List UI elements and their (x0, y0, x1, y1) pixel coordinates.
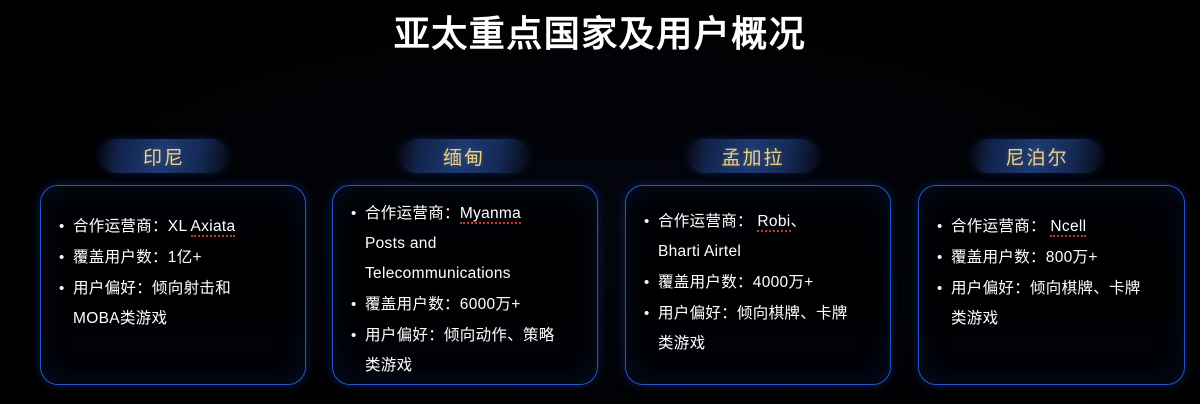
text-run: Telecommunications (365, 265, 511, 282)
bullet-dot-icon: • (351, 290, 365, 320)
country-card-nepal: •合作运营商： Ncell•覆盖用户数：800万+•用户偏好：倾向棋牌、卡牌类游… (918, 185, 1185, 385)
bullet-list: •合作运营商：MyanmaPosts andTelecommunications… (351, 199, 585, 382)
text-run: 、 (791, 213, 807, 230)
country-badge-indonesia[interactable]: 印尼 (100, 139, 228, 173)
bullet-dot-icon: • (937, 243, 951, 273)
text-run: Posts and (365, 235, 437, 252)
text-run: MOBA类游戏 (73, 310, 167, 327)
bullet-text: 合作运营商： Ncell (951, 212, 1172, 242)
country-badge-label: 缅甸 (443, 143, 485, 170)
bullet-dot-icon: • (59, 212, 73, 242)
bullet-text: 合作运营商：XL Axiata (73, 212, 293, 242)
bullet-text: 用户偏好：倾向动作、策略类游戏 (365, 321, 585, 381)
country-badge-nepal[interactable]: 尼泊尔 (972, 139, 1102, 173)
text-run: 用户偏好：倾向动作、策略 (365, 327, 555, 344)
bullet-item: •用户偏好：倾向射击和MOBA类游戏 (59, 274, 293, 334)
country-badge-bangladesh[interactable]: 孟加拉 (688, 139, 818, 173)
bullet-item: •合作运营商：MyanmaPosts andTelecommunications (351, 199, 585, 289)
text-run: 覆盖用户数：800万+ (951, 249, 1098, 266)
text-run: 覆盖用户数：6000万+ (365, 296, 521, 313)
text-run: 用户偏好：倾向棋牌、卡牌 (951, 280, 1141, 297)
bullet-text: 覆盖用户数：800万+ (951, 243, 1172, 273)
bullet-text: 用户偏好：倾向棋牌、卡牌类游戏 (951, 274, 1172, 334)
slide-root: 亚太重点国家及用户概况 印尼•合作运营商：XL Axiata•覆盖用户数：1亿+… (0, 0, 1200, 404)
country-card-myanmar: •合作运营商：MyanmaPosts andTelecommunications… (332, 185, 598, 385)
bullet-item: •用户偏好：倾向动作、策略类游戏 (351, 321, 585, 381)
text-run: 类游戏 (951, 310, 998, 327)
text-run: 用户偏好：倾向射击和 (73, 280, 231, 297)
country-columns: 印尼•合作运营商：XL Axiata•覆盖用户数：1亿+•用户偏好：倾向射击和M… (0, 0, 1200, 404)
bullet-text: 用户偏好：倾向射击和MOBA类游戏 (73, 274, 293, 334)
misspelled-term: Myanma (460, 205, 521, 224)
bullet-dot-icon: • (937, 212, 951, 242)
bullet-dot-icon: • (59, 243, 73, 273)
bullet-item: •覆盖用户数：4000万+ (644, 268, 878, 298)
bullet-item: •用户偏好：倾向棋牌、卡牌类游戏 (644, 299, 878, 359)
country-badge-label: 尼泊尔 (1005, 143, 1068, 170)
text-run: 用户偏好：倾向棋牌、卡牌 (658, 305, 848, 322)
text-run: 合作运营商： (951, 218, 1050, 235)
bullet-text: 合作运营商： Robi、Bharti Airtel (658, 207, 878, 267)
text-run: 覆盖用户数：4000万+ (658, 274, 814, 291)
country-badge-label: 印尼 (143, 143, 185, 170)
bullet-item: •合作运营商： Ncell (937, 212, 1172, 242)
text-run: 类游戏 (658, 335, 705, 352)
bullet-dot-icon: • (59, 274, 73, 304)
text-run: 类游戏 (365, 357, 412, 374)
bullet-dot-icon: • (644, 299, 658, 329)
bullet-text: 覆盖用户数：6000万+ (365, 290, 585, 320)
bullet-item: •合作运营商： Robi、Bharti Airtel (644, 207, 878, 267)
country-card-bangladesh: •合作运营商： Robi、Bharti Airtel•覆盖用户数：4000万+•… (625, 185, 891, 385)
bullet-item: •覆盖用户数：1亿+ (59, 243, 293, 273)
text-run: Bharti Airtel (658, 243, 741, 260)
bullet-text: 合作运营商：MyanmaPosts andTelecommunications (365, 199, 585, 289)
bullet-list: •合作运营商：XL Axiata•覆盖用户数：1亿+•用户偏好：倾向射击和MOB… (59, 212, 293, 335)
misspelled-term: Ncell (1050, 218, 1086, 237)
bullet-item: •覆盖用户数：6000万+ (351, 290, 585, 320)
bullet-item: •用户偏好：倾向棋牌、卡牌类游戏 (937, 274, 1172, 334)
bullet-text: 用户偏好：倾向棋牌、卡牌类游戏 (658, 299, 878, 359)
country-card-indonesia: •合作运营商：XL Axiata•覆盖用户数：1亿+•用户偏好：倾向射击和MOB… (40, 185, 306, 385)
bullet-text: 覆盖用户数：4000万+ (658, 268, 878, 298)
bullet-dot-icon: • (351, 199, 365, 229)
country-badge-label: 孟加拉 (721, 143, 784, 170)
text-run: 覆盖用户数：1亿+ (73, 249, 202, 266)
bullet-list: •合作运营商： Ncell•覆盖用户数：800万+•用户偏好：倾向棋牌、卡牌类游… (937, 212, 1172, 335)
bullet-item: •覆盖用户数：800万+ (937, 243, 1172, 273)
country-badge-myanmar[interactable]: 缅甸 (400, 139, 528, 173)
text-run: 合作运营商： (365, 205, 460, 222)
bullet-list: •合作运营商： Robi、Bharti Airtel•覆盖用户数：4000万+•… (644, 207, 878, 360)
bullet-dot-icon: • (644, 207, 658, 237)
bullet-text: 覆盖用户数：1亿+ (73, 243, 293, 273)
text-run: 合作运营商：XL (73, 218, 191, 235)
bullet-item: •合作运营商：XL Axiata (59, 212, 293, 242)
text-run: 合作运营商： (658, 213, 757, 230)
misspelled-term: Robi (757, 213, 790, 232)
bullet-dot-icon: • (351, 321, 365, 351)
bullet-dot-icon: • (937, 274, 951, 304)
bullet-dot-icon: • (644, 268, 658, 298)
misspelled-term: Axiata (191, 218, 236, 237)
